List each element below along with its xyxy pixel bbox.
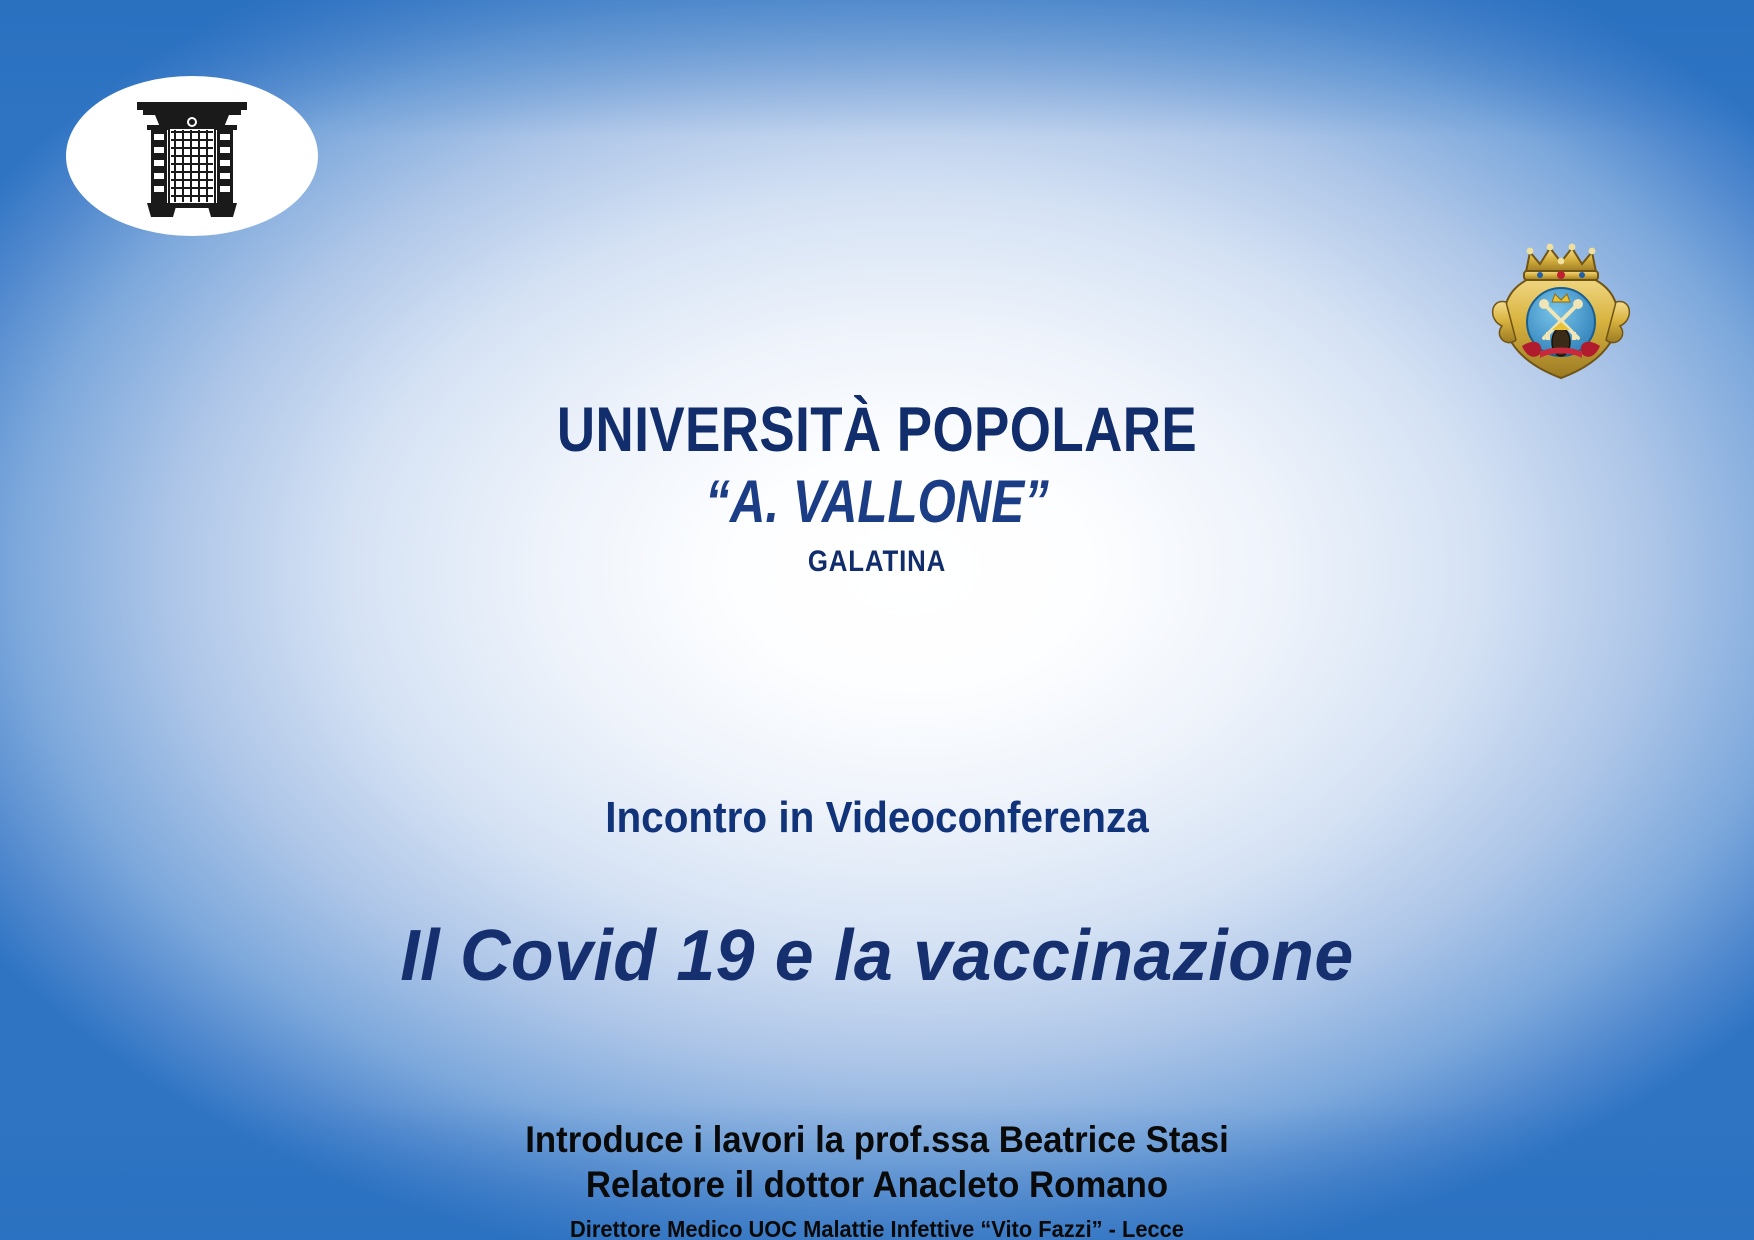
- presenters-block: Introduce i lavori la prof.ssa Beatrice …: [0, 1117, 1754, 1240]
- event-kind: Incontro in Videoconferenza: [70, 793, 1684, 843]
- org-city: GALATINA: [123, 545, 1631, 579]
- speaker-line: Relatore il dottor Anacleto Romano: [53, 1162, 1702, 1207]
- org-name-line1: UNIVERSITÀ POPOLARE: [140, 398, 1613, 464]
- university-logo-oval: [66, 76, 318, 236]
- poster-canvas: UNIVERSITÀ POPOLARE “A. VALLONE” GALATIN…: [0, 0, 1754, 1240]
- org-name-line2: “A. VALLONE”: [158, 470, 1596, 534]
- municipal-coat-of-arms-icon: [1482, 242, 1640, 394]
- organization-heading: UNIVERSITÀ POPOLARE “A. VALLONE” GALATIN…: [0, 398, 1754, 579]
- introducer-line: Introduce i lavori la prof.ssa Beatrice …: [53, 1117, 1702, 1162]
- baroque-window-engraving-icon: [133, 92, 251, 220]
- page-title: Il Covid 19 e la vaccinazione: [26, 915, 1727, 997]
- speaker-role-line: Direttore Medico UOC Malattie Infettive …: [44, 1216, 1710, 1240]
